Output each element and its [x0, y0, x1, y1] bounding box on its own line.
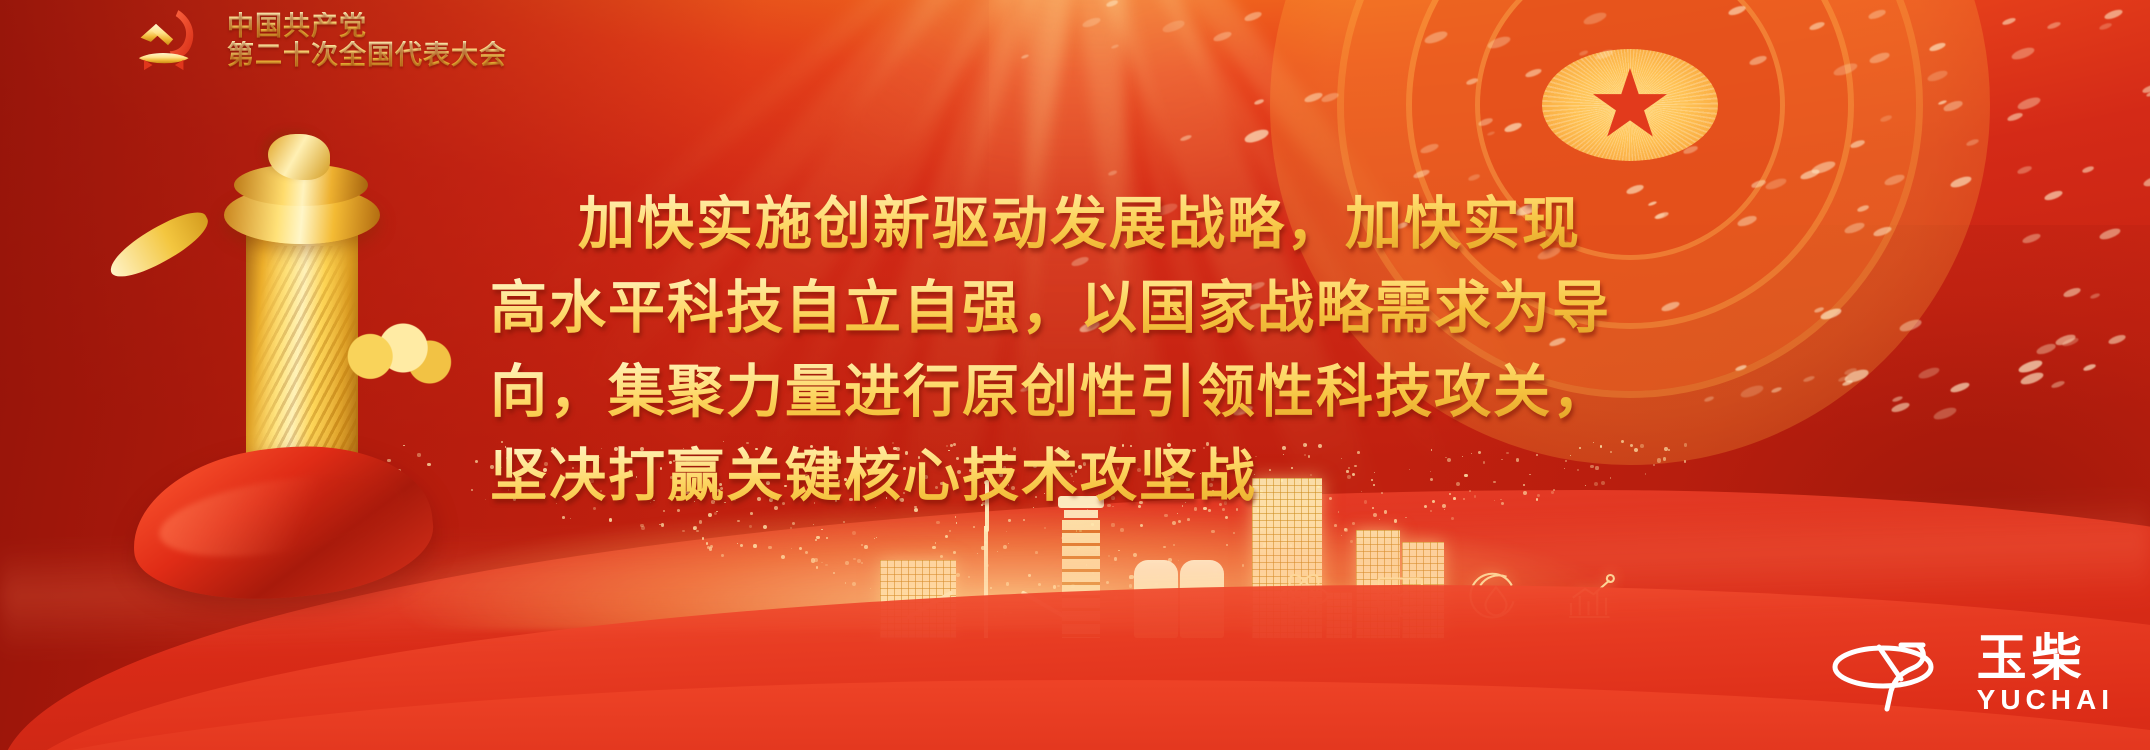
yuchai-wordmark: 玉柴 YUCHAI — [1977, 632, 2114, 716]
speckle — [2050, 379, 2065, 389]
speckle — [1413, 168, 1431, 180]
speckle — [1110, 44, 1119, 50]
speckle — [2081, 165, 2094, 174]
glitter-dot — [475, 460, 478, 463]
speckle — [1423, 30, 1448, 46]
speckle — [1466, 77, 1479, 85]
speckle — [1582, 10, 1608, 27]
cloud-disc-right — [346, 320, 456, 390]
speckle — [2016, 95, 2041, 111]
speckle — [2011, 45, 2037, 62]
speckle — [1161, 18, 1185, 34]
yuchai-ellipse-mark — [1831, 635, 1959, 713]
speckle — [1868, 50, 1890, 64]
speckle — [2022, 232, 2042, 245]
speckle — [1748, 54, 1767, 66]
speckle — [1898, 317, 1923, 333]
speckle — [1320, 91, 1339, 103]
glitter-dot — [792, 522, 796, 526]
cpc-logo-text: 中国共产党 第二十次全国代表大会 — [227, 12, 507, 70]
glitter-dot — [471, 489, 473, 491]
speckle — [2035, 342, 2056, 356]
speckle — [1832, 61, 1858, 78]
speckle — [1683, 145, 1699, 155]
glitter-dot — [737, 520, 740, 523]
speckle — [1843, 220, 1866, 235]
speckle — [1106, 0, 1119, 7]
speckle — [1890, 401, 1910, 414]
yuchai-brand-logo: 玉柴 YUCHAI — [1831, 632, 2114, 716]
banner-root: 中国共产党 第二十次全国代表大会 加快实施创新驱动发展战略，加快实现 高水平科技… — [0, 0, 2150, 750]
cpc-logo-line-1: 中国共产党 — [227, 12, 507, 41]
speckle — [1750, 179, 1766, 189]
speckle — [2098, 227, 2121, 242]
speckle — [2107, 334, 2126, 347]
glitter-dot — [485, 499, 486, 500]
speckle — [1808, 20, 1825, 31]
speckle — [2007, 111, 2024, 122]
speckle — [2103, 8, 2123, 21]
speckle — [1857, 204, 1870, 212]
speckle — [1929, 41, 1947, 53]
slogan-line-1: 加快实施创新驱动发展战略，加快实现 — [490, 182, 1740, 266]
speckle — [1803, 375, 1816, 383]
speckle — [1926, 69, 1948, 83]
yuchai-chinese-name: 玉柴 — [1977, 632, 2087, 684]
slogan-line-3: 向，集聚力量进行原创性引领性科技攻关， — [490, 350, 1740, 434]
hammer-and-sickle-emblem — [125, 5, 211, 77]
speckle — [1108, 169, 1118, 175]
speckle — [1254, 98, 1264, 105]
speckle — [1765, 177, 1788, 192]
yuchai-english-name: YUCHAI — [1977, 684, 2114, 716]
speckle — [1727, 4, 1747, 17]
speckle — [2063, 286, 2082, 299]
speckle — [1303, 91, 1323, 104]
speckle — [1932, 405, 1958, 422]
speckle — [1504, 121, 1523, 133]
slogan-line-4: 坚决打赢关键核心技术攻坚战 — [490, 434, 1740, 518]
speckle — [2142, 174, 2150, 189]
speckle — [1212, 30, 1233, 43]
speckle — [2090, 292, 2101, 299]
speckle — [1811, 159, 1838, 176]
speckle — [2047, 21, 2062, 31]
speckle — [2016, 165, 2032, 176]
speckle — [1770, 386, 1782, 394]
speckle — [1487, 131, 1496, 137]
speckle — [1873, 225, 1893, 238]
speckle — [1468, 173, 1481, 181]
speckle — [2083, 363, 2097, 372]
speckle — [1868, 8, 1887, 20]
speckle — [1486, 34, 1512, 51]
slogan-line-2: 高水平科技自立自强，以国家战略需求为导 — [490, 266, 1740, 350]
glitter-dot — [699, 520, 702, 523]
speckle — [2002, 16, 2017, 25]
speckle — [1850, 138, 1866, 149]
slogan-block: 加快实施创新驱动发展战略，加快实现 高水平科技自立自强，以国家战略需求为导 向，… — [490, 182, 1740, 518]
speckle — [1244, 127, 1271, 145]
speckle — [1884, 173, 1906, 187]
speckle — [1420, 142, 1441, 155]
speckle — [1021, 54, 1030, 60]
speckle — [1880, 114, 1893, 123]
speckle — [1949, 381, 1970, 395]
speckle — [1594, 48, 1614, 61]
speckle — [1180, 134, 1193, 142]
glitter-dot — [641, 526, 644, 529]
glitter-dot — [609, 518, 613, 522]
glitter-dot — [661, 523, 664, 526]
speckle — [2044, 189, 2064, 202]
speckle — [1243, 10, 1262, 22]
speckle — [1081, 16, 1101, 29]
huabiao-column-decoration — [118, 128, 438, 598]
speckle — [1949, 175, 1972, 190]
speckle — [2098, 22, 2111, 31]
speckle — [1524, 67, 1542, 79]
cpc-logo-line-2: 第二十次全国代表大会 — [227, 41, 507, 70]
speckle — [1739, 383, 1764, 400]
cpc-congress-logo: 中国共产党 第二十次全国代表大会 — [125, 5, 507, 77]
glitter-dot — [813, 524, 814, 525]
speckle — [1478, 117, 1495, 128]
speckle — [1917, 365, 1941, 381]
glitter-dot — [843, 521, 845, 523]
speckle — [1578, 50, 1588, 57]
speckle — [1966, 137, 1980, 146]
